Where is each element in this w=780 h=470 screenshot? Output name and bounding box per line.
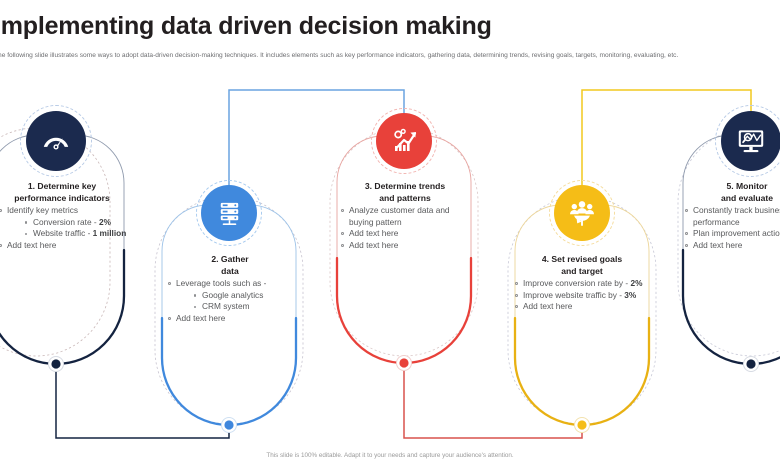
step-3-icon-badge[interactable] bbox=[371, 108, 437, 174]
connector-3-to-4 bbox=[404, 363, 582, 438]
step-1-icon-badge[interactable] bbox=[20, 105, 92, 177]
list-item: Leverage tools such as - Google analytic… bbox=[165, 278, 295, 313]
growth-chart-icon bbox=[388, 125, 420, 157]
list-item: Conversion rate - 2% bbox=[24, 217, 128, 229]
step-4-icon-badge[interactable] bbox=[549, 180, 615, 246]
capsule-dotted-outlines bbox=[0, 128, 780, 424]
step-3-bullets: Analyze customer data and buying pattern… bbox=[338, 205, 472, 251]
list-item: Add text here bbox=[512, 301, 652, 313]
list-item: Improve conversion rate by - 2% bbox=[512, 278, 652, 290]
team-target-icon bbox=[566, 197, 598, 229]
end-dot-3 bbox=[399, 358, 408, 367]
connector-1-to-2 bbox=[56, 364, 229, 438]
capsule-4-bold bbox=[515, 318, 649, 425]
metric-value: 1 million bbox=[93, 228, 127, 238]
end-dot-5 bbox=[746, 359, 755, 368]
step-2-subbullets: Google analytics CRM system bbox=[176, 290, 295, 313]
end-dot-4 bbox=[577, 420, 586, 429]
step-2-heading: 2. Gather data bbox=[165, 254, 295, 277]
step-3-icon-disc bbox=[376, 113, 432, 169]
list-item: Analyze customer data and buying pattern bbox=[338, 205, 472, 228]
step-5-text: 5. Monitor and evaluate Constantly track… bbox=[682, 181, 780, 251]
capsule-3-bold bbox=[337, 258, 471, 363]
gauge-icon bbox=[39, 124, 73, 158]
step-2-icon-disc bbox=[201, 185, 257, 241]
server-icon bbox=[214, 198, 245, 229]
slide-root: Implementing data driven decision making… bbox=[0, 0, 780, 470]
step-1-bullets: Identify key metrics Conversion rate - 2… bbox=[0, 205, 128, 251]
step-5-icon-disc bbox=[721, 111, 780, 171]
list-item: Google analytics bbox=[193, 290, 295, 302]
list-item: Constantly track business performance bbox=[682, 205, 780, 228]
list-item: Add text here bbox=[0, 240, 128, 252]
list-item: Add text here bbox=[338, 228, 472, 240]
step-2-bullets: Leverage tools such as - Google analytic… bbox=[165, 278, 295, 324]
metric-value: 3% bbox=[624, 290, 636, 300]
step-1-text: 1. Determine key performance indicators … bbox=[0, 181, 128, 251]
list-item: Website traffic - 1 million bbox=[24, 228, 128, 240]
list-item: Add text here bbox=[682, 240, 780, 252]
step-4-heading: 4. Set revised goals and target bbox=[512, 254, 652, 277]
end-dot-1 bbox=[51, 359, 60, 368]
list-item: Identify key metrics Conversion rate - 2… bbox=[0, 205, 128, 240]
capsule-2-bold bbox=[162, 318, 296, 425]
step-2-icon-badge[interactable] bbox=[196, 180, 262, 246]
list-item: Plan improvement actions bbox=[682, 228, 780, 240]
list-item: Improve website traffic by - 3% bbox=[512, 290, 652, 302]
monitor-analytics-icon bbox=[734, 124, 768, 158]
step-2-text: 2. Gather data Leverage tools such as - … bbox=[165, 254, 295, 324]
step-1-heading: 1. Determine key performance indicators bbox=[0, 181, 128, 204]
slide-footer-note: This slide is 100% editable. Adapt it to… bbox=[0, 452, 780, 459]
end-dot-2 bbox=[224, 420, 233, 429]
step-5-heading: 5. Monitor and evaluate bbox=[682, 181, 780, 204]
step-5-bullets: Constantly track business performance Pl… bbox=[682, 205, 780, 251]
metric-value: 2% bbox=[630, 278, 642, 288]
step-5-icon-badge[interactable] bbox=[715, 105, 780, 177]
step-3-heading: 3. Determine trends and patterns bbox=[338, 181, 472, 204]
capsule-5-bold bbox=[683, 250, 780, 364]
list-item: CRM system bbox=[193, 301, 295, 313]
list-item: Add text here bbox=[165, 313, 295, 325]
metric-value: 2% bbox=[99, 217, 111, 227]
list-item: Add text here bbox=[338, 240, 472, 252]
step-4-bullets: Improve conversion rate by - 2% Improve … bbox=[512, 278, 652, 313]
step-1-icon-disc bbox=[26, 111, 86, 171]
step-4-text: 4. Set revised goals and target Improve … bbox=[512, 254, 652, 313]
step-1-subbullets: Conversion rate - 2% Website traffic - 1… bbox=[7, 217, 128, 240]
step-3-text: 3. Determine trends and patterns Analyze… bbox=[338, 181, 472, 251]
step-4-icon-disc bbox=[554, 185, 610, 241]
